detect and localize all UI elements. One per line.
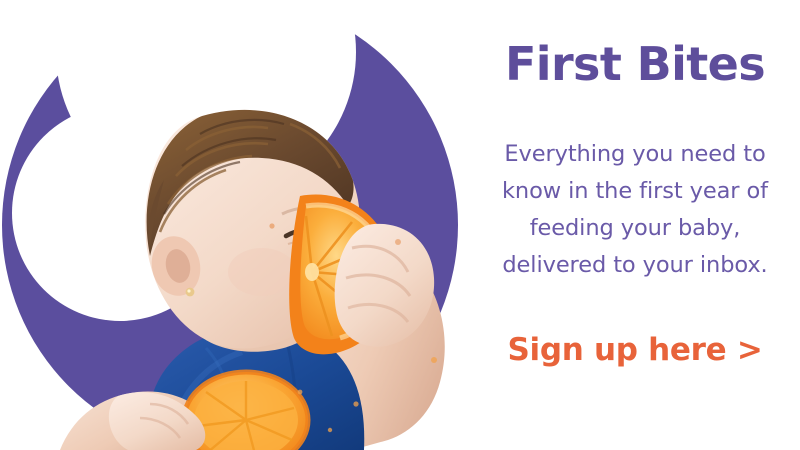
newsletter-promo-banner: First Bites Everything you need to know … [0,0,800,450]
hero-artwork-svg [0,0,470,450]
sign-up-link[interactable]: Sign up here > [507,284,762,368]
promo-text-panel: First Bites Everything you need to know … [470,0,800,450]
promo-description: Everything you need to know in the first… [490,88,780,284]
page-title: First Bites [505,40,765,88]
hero-illustration [0,0,470,450]
